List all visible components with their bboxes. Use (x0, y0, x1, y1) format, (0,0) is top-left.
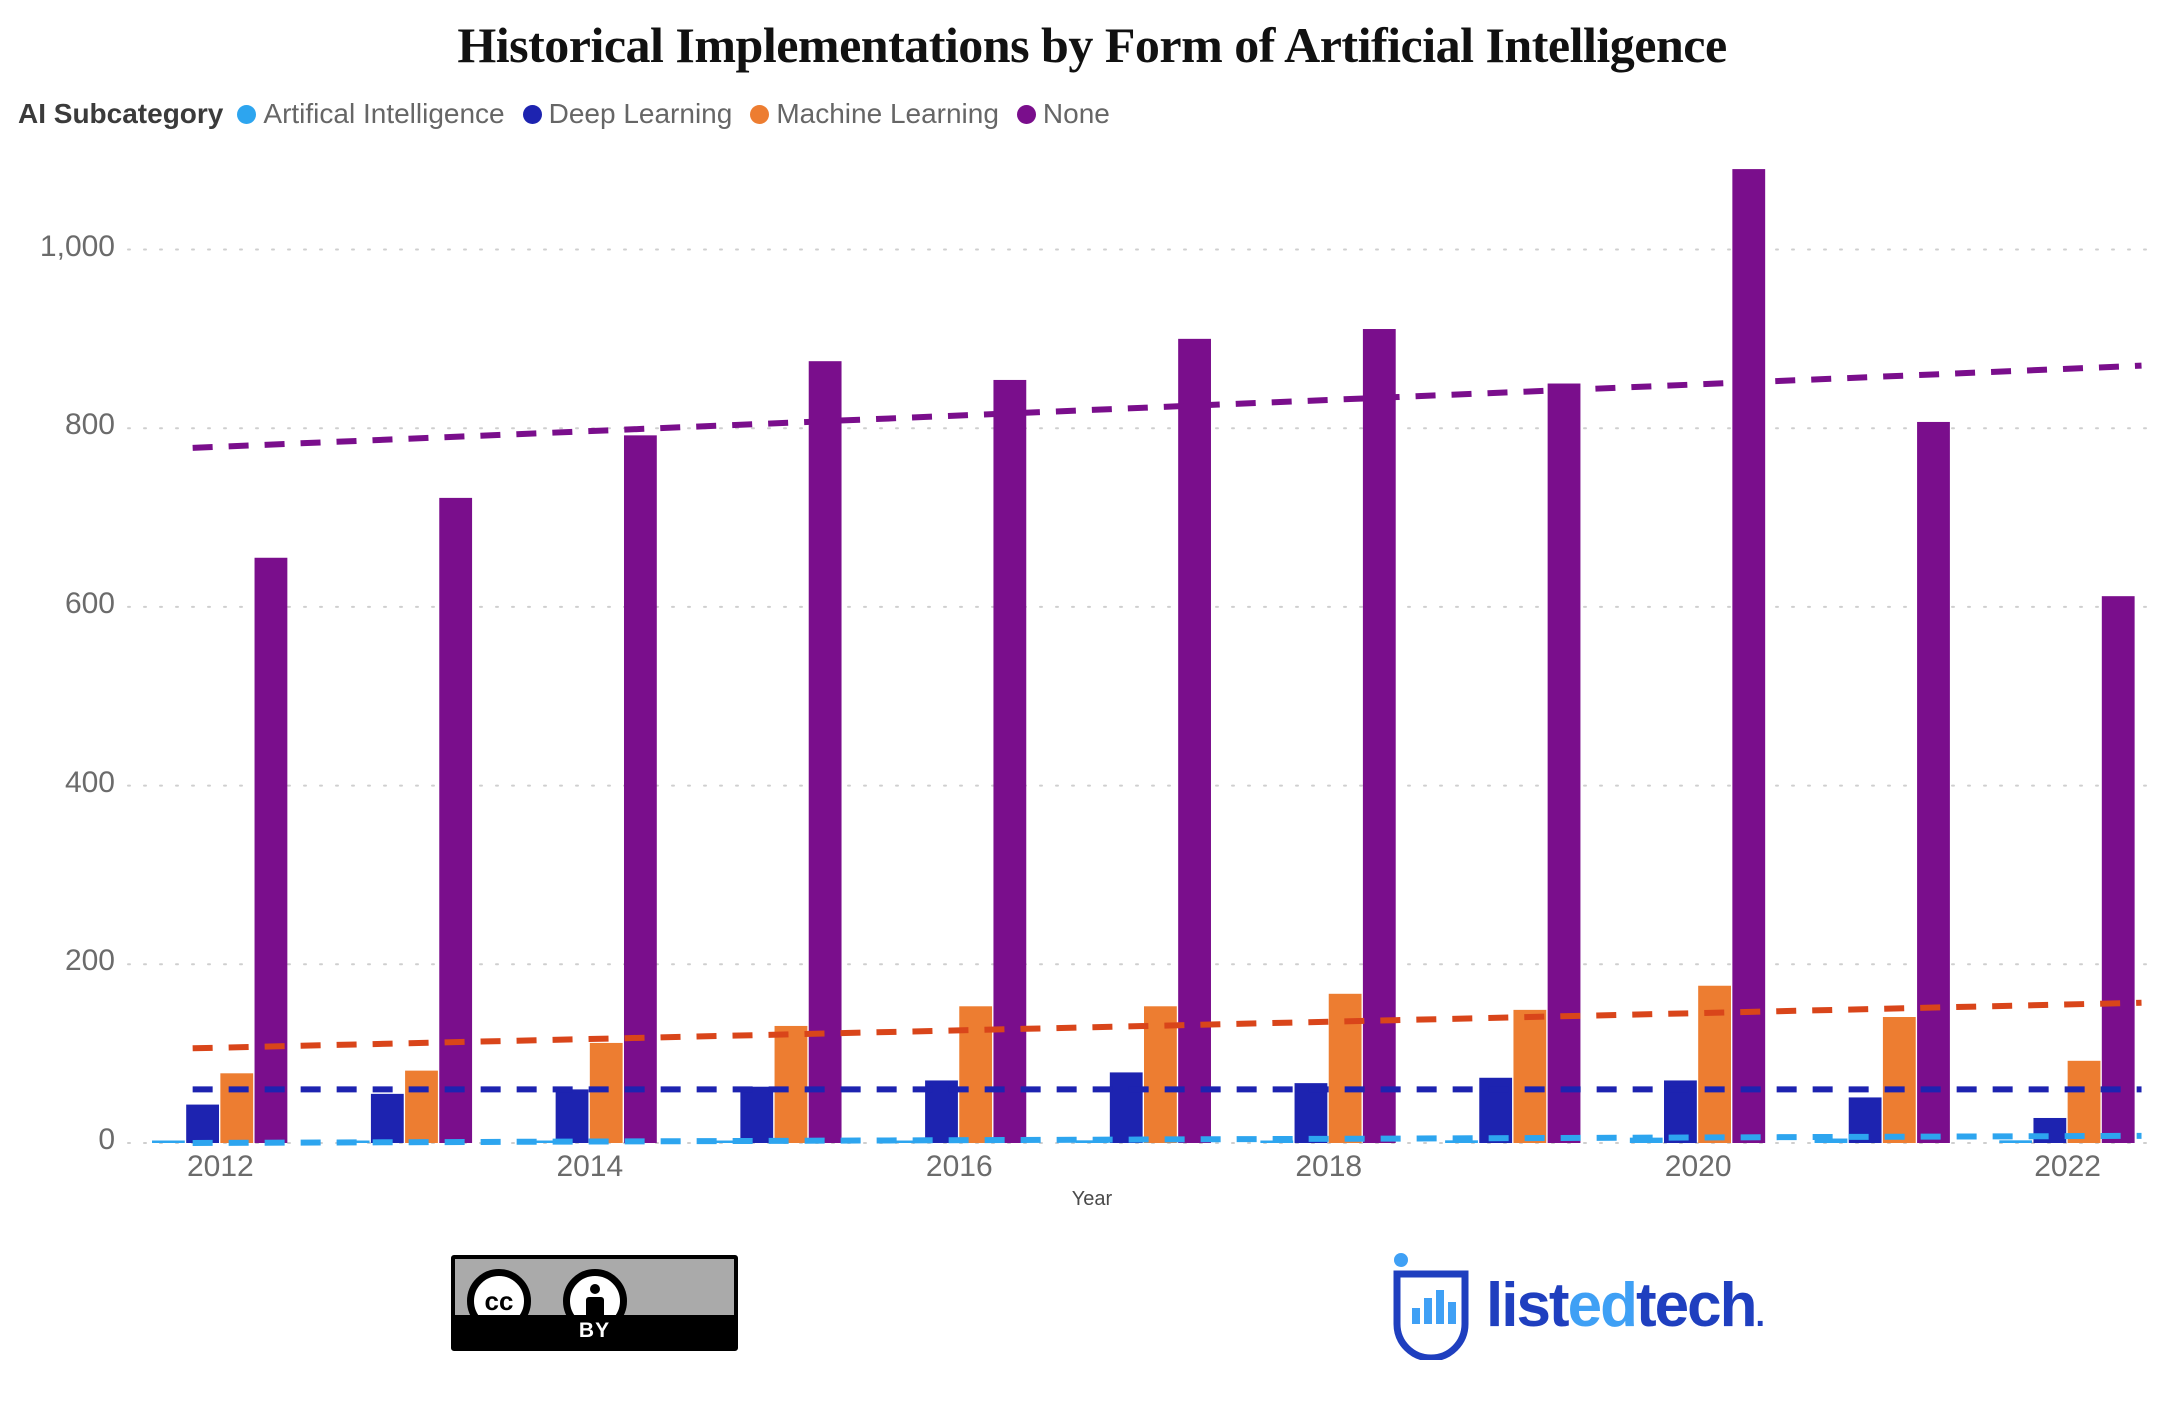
listedtech-logo: listedtech. (1390, 1252, 1763, 1360)
bar-2014-machine-learning[interactable] (590, 1043, 623, 1143)
y-tick-400: 400 (5, 766, 115, 800)
x-tick-2022: 2022 (1998, 1150, 2138, 1184)
y-tick-1000: 1,000 (5, 230, 115, 264)
x-axis-title: Year (0, 1188, 2184, 1211)
bar-2019-none[interactable] (1548, 384, 1581, 1143)
x-tick-2016: 2016 (889, 1150, 1029, 1184)
x-tick-2014: 2014 (520, 1150, 660, 1184)
bar-2014-deep-learning[interactable] (556, 1089, 589, 1143)
bar-2019-machine-learning[interactable] (1513, 1010, 1546, 1143)
y-tick-200: 200 (5, 944, 115, 978)
bar-2013-deep-learning[interactable] (371, 1094, 404, 1143)
logo-text-list: list (1486, 1271, 1568, 1340)
bar-2022-none[interactable] (2102, 596, 2135, 1143)
listedtech-shield-icon (1390, 1252, 1472, 1360)
bar-2012-machine-learning[interactable] (220, 1073, 253, 1143)
person-head (590, 1284, 600, 1294)
cc-badge-top: cc (455, 1259, 734, 1317)
y-tick-600: 600 (5, 587, 115, 621)
bar-2022-artifical-intelligence[interactable] (1999, 1140, 2032, 1143)
x-tick-2020: 2020 (1628, 1150, 1768, 1184)
y-tick-0: 0 (5, 1123, 115, 1157)
shield-bars-icon (1390, 1252, 1472, 1360)
bar-2020-none[interactable] (1732, 169, 1765, 1143)
bar-2021-none[interactable] (1917, 422, 1950, 1143)
person-glyph (585, 1284, 605, 1318)
bar-2018-machine-learning[interactable] (1329, 994, 1362, 1143)
bar-2015-deep-learning[interactable] (740, 1087, 773, 1143)
x-tick-2012: 2012 (150, 1150, 290, 1184)
bar-2022-machine-learning[interactable] (2068, 1061, 2101, 1143)
logo-text-dot: . (1755, 1296, 1762, 1334)
cc-badge-by-label: BY (455, 1315, 734, 1347)
listedtech-wordmark: listedtech. (1486, 1275, 1763, 1337)
x-tick-2018: 2018 (1259, 1150, 1399, 1184)
bar-2020-machine-learning[interactable] (1698, 986, 1731, 1143)
bar-2015-machine-learning[interactable] (775, 1026, 808, 1143)
creative-commons-by-badge: cc BY (451, 1255, 738, 1351)
bar-2017-deep-learning[interactable] (1110, 1072, 1143, 1143)
bar-2015-none[interactable] (809, 361, 842, 1143)
bar-2013-none[interactable] (439, 498, 472, 1143)
bar-2012-deep-learning[interactable] (186, 1105, 219, 1143)
bar-2012-none[interactable] (255, 558, 288, 1143)
bar-2013-machine-learning[interactable] (405, 1071, 438, 1143)
bar-2012-artifical-intelligence[interactable] (152, 1141, 185, 1144)
y-tick-800: 800 (5, 408, 115, 442)
trendline-none (193, 366, 2142, 448)
logo-text-ed: ed (1568, 1271, 1636, 1340)
bar-2021-machine-learning[interactable] (1883, 1017, 1916, 1143)
logo-text-tech: tech (1636, 1271, 1755, 1340)
bar-2022-deep-learning[interactable] (2033, 1118, 2066, 1143)
